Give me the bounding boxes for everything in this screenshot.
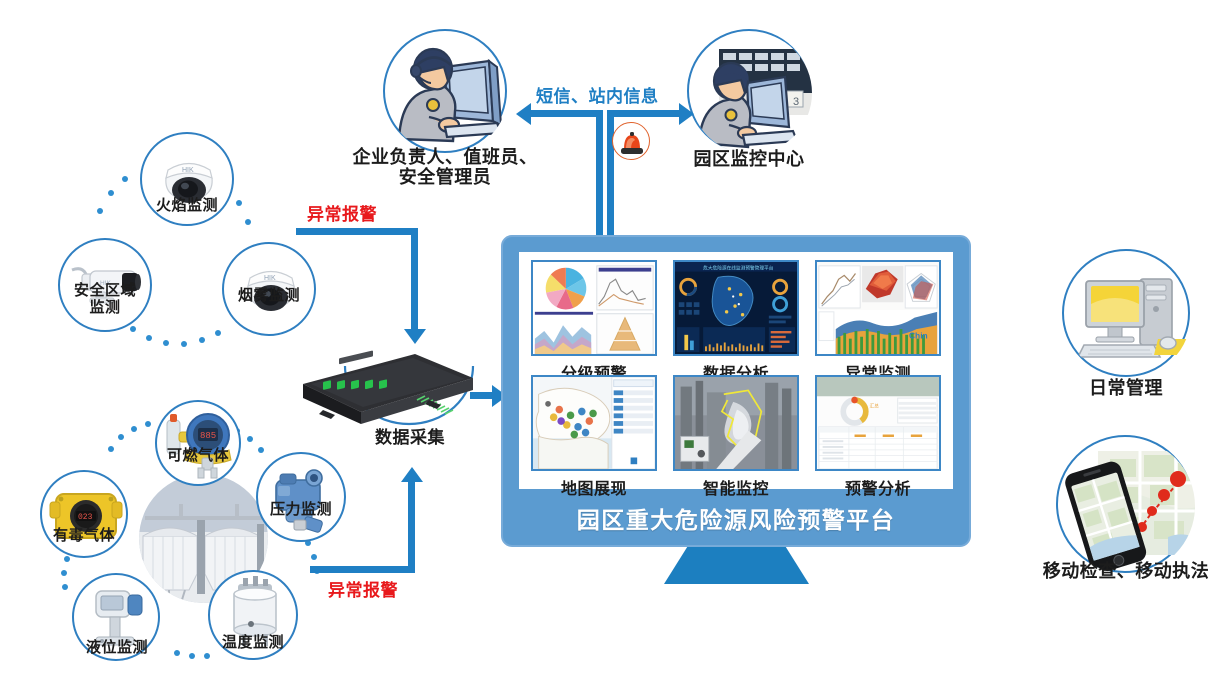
combustible-gas-circle: 885	[155, 400, 241, 486]
pressure-label: 压力监测	[253, 502, 349, 519]
arrow-to-monitoring-center	[679, 103, 694, 125]
connector-gateway-to-platform	[470, 392, 494, 399]
monitoring-center-label: 园区监控中心	[669, 149, 829, 169]
connector-monitor-to-staff-vertical	[596, 110, 603, 242]
svg-text:885: 885	[200, 431, 216, 441]
liquid-level-label: 液位监测	[70, 640, 164, 657]
panel-map-display-thumb	[531, 375, 657, 471]
toxic-gas-circle: 023	[40, 470, 128, 558]
alarm-top-vertical	[411, 228, 418, 329]
panel-warning-analysis-label: 预警分析	[807, 475, 949, 499]
operator-at-desktop-icon	[385, 31, 509, 155]
panel-smart-monitoring-thumb	[673, 375, 799, 471]
monitoring-center-circle: 3	[687, 29, 811, 153]
alarm-label-top: 异常报警	[307, 200, 377, 225]
panel-warning-analysis-thumb: 汇总	[815, 375, 941, 471]
alarm-beacon-icon	[613, 123, 651, 161]
sms-channel-label: 短信、站内信息	[536, 82, 659, 107]
alarm-bottom-horizontal	[310, 566, 415, 573]
toxic-gas-detector-icon: 023	[42, 472, 130, 560]
enterprise-staff-circle	[383, 29, 507, 153]
combustible-gas-label: 可燃气体	[152, 448, 244, 465]
alarm-bottom-vertical	[408, 482, 415, 573]
panel-map-display-label: 地图展现	[523, 475, 665, 499]
arrow-to-staff	[516, 103, 531, 125]
daily-management-label: 日常管理	[1060, 378, 1192, 398]
desktop-computer-icon	[1064, 251, 1192, 379]
dashboard-panel-grid: 分级预警 危大危险源在线监测预警管理平台	[523, 256, 949, 485]
panel-anomaly-monitor-thumb: Chin	[815, 260, 941, 356]
gateway-label: 数据采集	[340, 428, 480, 447]
gas-detector-icon: 885	[157, 402, 243, 488]
panel-anomaly-monitor[interactable]: Chin 异常监测	[807, 256, 949, 371]
panel-graded-warning[interactable]: 分级预警	[523, 256, 665, 371]
temperature-label: 温度监测	[206, 635, 300, 652]
panel-data-analysis[interactable]: 危大危险源在线监测预警管理平台	[665, 256, 807, 371]
daily-management-circle	[1062, 249, 1190, 377]
platform-monitor[interactable]: 分级预警 危大危险源在线监测预警管理平台	[501, 235, 971, 547]
alarm-label-bottom: 异常报警	[328, 576, 398, 601]
svg-text:Chin: Chin	[909, 331, 928, 341]
mobile-inspection-circle	[1056, 435, 1194, 573]
connector-monitor-to-center-horizontal	[607, 110, 679, 117]
connector-monitor-to-staff-horizontal	[531, 110, 603, 117]
panel-data-analysis-thumb: 危大危险源在线监测预警管理平台	[673, 260, 799, 356]
panel-smart-monitoring-label: 智能监控	[665, 475, 807, 499]
diagram-canvas: 企业负责人、值班员、 安全管理员	[0, 0, 1229, 685]
toxic-gas-label: 有毒气体	[36, 528, 132, 545]
panel-smart-monitoring[interactable]: 智能监控	[665, 371, 807, 486]
panel-map-display[interactable]: 地图展现	[523, 371, 665, 486]
panel-warning-analysis[interactable]: 汇总	[807, 371, 949, 486]
mobile-inspection-label: 移动检查、移动执法	[1033, 561, 1219, 581]
flame-detection-label: 火焰监测	[141, 198, 233, 215]
data-acquisition-gateway-icon	[297, 344, 477, 428]
monitor-screen: 分级预警 危大危险源在线监测预警管理平台	[519, 252, 953, 489]
panel-graded-warning-thumb	[531, 260, 657, 356]
smoke-detection-label: 烟雾监测	[222, 288, 316, 305]
monitor-stand	[664, 547, 809, 584]
svg-text:3: 3	[793, 96, 799, 108]
enterprise-staff-label: 企业负责人、值班员、 安全管理员	[349, 147, 541, 187]
alarm-beacon-badge	[612, 122, 650, 160]
platform-title: 园区重大危险源风险预警平台	[501, 501, 971, 535]
pressure-transmitter-icon	[258, 454, 348, 544]
pressure-circle	[256, 452, 346, 542]
safety-zone-label: 安全区域 监测	[57, 283, 153, 317]
alarm-top-horizontal	[296, 228, 418, 235]
control-room-operator-icon: 3	[689, 31, 813, 155]
svg-text:HIK: HIK	[264, 275, 276, 282]
smartphone-map-icon	[1058, 437, 1196, 575]
svg-text:023: 023	[78, 513, 93, 522]
arrow-alarm-to-gateway-bottom	[401, 467, 423, 482]
svg-text:HIK: HIK	[182, 167, 194, 174]
